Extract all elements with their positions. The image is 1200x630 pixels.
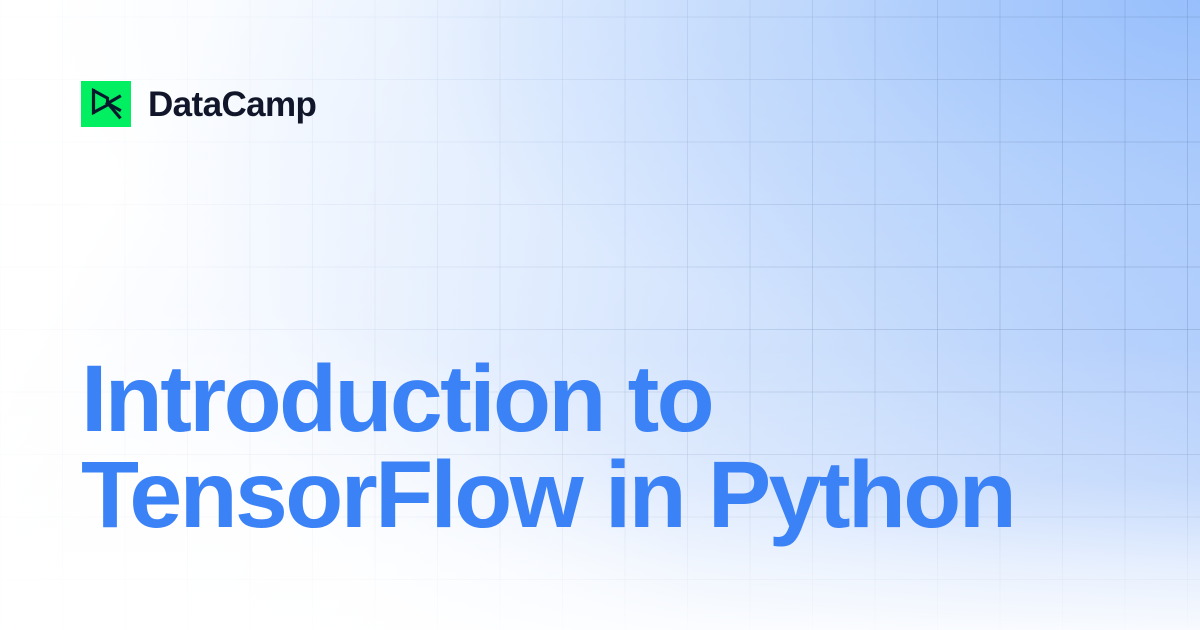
brand-name: DataCamp	[148, 87, 316, 122]
brand-lockup: DataCamp	[81, 81, 316, 127]
course-banner: DataCamp Introduction to TensorFlow in P…	[0, 0, 1200, 630]
page-title-line-2: TensorFlow in Python	[81, 447, 1081, 543]
page-title: Introduction to TensorFlow in Python	[81, 351, 1081, 543]
page-title-line-1: Introduction to	[81, 351, 1081, 447]
datacamp-logo-icon	[81, 81, 131, 127]
